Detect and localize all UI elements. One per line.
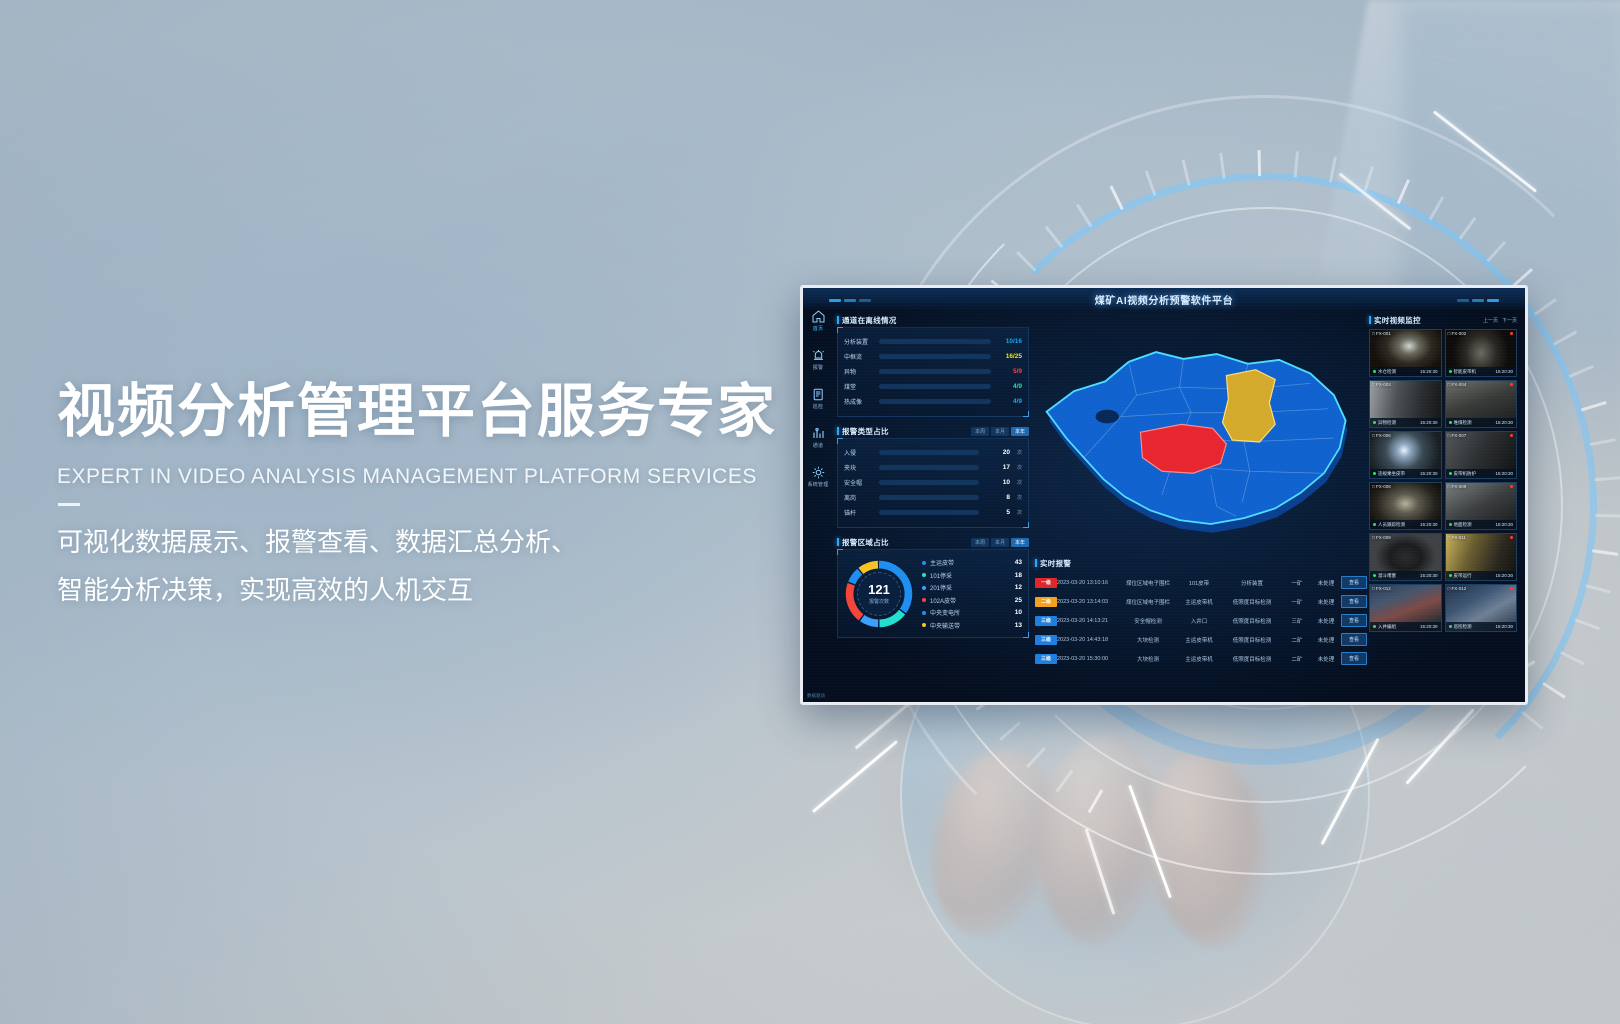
video-footer: 皮带运行15:20:30 [1446, 571, 1517, 580]
cell-status: 未处理 [1311, 636, 1341, 644]
table-row: 三级2023-03-20 14:13:21安全帽检测入井口低照度目标检测三矿未处… [1035, 611, 1367, 630]
status-badge: 三级 [1035, 616, 1057, 626]
channel-bar-row: 异物5/9 [844, 364, 1022, 379]
video-name: 水仓检测 [1378, 369, 1396, 375]
video-name: 违规乘坐皮带 [1378, 471, 1405, 477]
legend-color-dot [922, 598, 926, 602]
video-name: 皮带运行 [1454, 573, 1472, 579]
header-dash-right-3 [1457, 299, 1469, 302]
video-prev-page[interactable]: 上一页 [1483, 317, 1498, 324]
video-cell[interactable]: □ FX-002智能皮带机15:20:30 [1445, 329, 1518, 377]
video-time: 15:20:30 [1420, 471, 1438, 476]
donut-center-value: 121 [868, 583, 890, 596]
video-name: 智能皮带机 [1454, 369, 1477, 375]
alert-type-unit: 次 [1017, 464, 1022, 471]
home-icon [812, 310, 825, 323]
cell-time: 2023-03-20 15:30:00 [1057, 656, 1119, 662]
alert-type-track [879, 510, 979, 515]
legend-color-dot [922, 573, 926, 577]
video-code: □ FX-009 [1372, 535, 1391, 540]
legend-value: 13 [1015, 622, 1022, 629]
video-grid: □ FX-001水仓检测15:20:30□ FX-002智能皮带机15:20:3… [1369, 329, 1517, 632]
alert-type-value: 10 [984, 479, 1010, 486]
video-name-wrap: 违规乘坐皮带 [1373, 471, 1405, 477]
sidebar-item-2[interactable]: 报警 [812, 349, 825, 371]
video-name: 皮带机防护 [1454, 471, 1477, 477]
video-cell[interactable]: □ FX-009地面检测15:20:30 [1445, 482, 1518, 530]
recording-indicator-icon [1510, 434, 1513, 437]
province-map[interactable] [1035, 316, 1367, 566]
channel-bar-label: 煤堂 [844, 382, 874, 391]
description-line-2: 智能分析决策，实现高效的人机交互 [57, 566, 817, 614]
channel-bar-track [879, 369, 991, 374]
cell-status: 未处理 [1311, 655, 1341, 663]
video-name-wrap: 入井编组 [1373, 624, 1396, 630]
tab-本年[interactable]: 本年 [1011, 427, 1029, 436]
sidebar-item-5[interactable]: 系统管理 [808, 466, 829, 488]
panel-channel-header: 通道在离线情况 [837, 313, 1029, 327]
status-badge: 三级 [1035, 654, 1057, 664]
header-dash-left-2 [844, 299, 856, 302]
video-name-wrap: 异物检测 [1373, 420, 1396, 426]
video-header: 实时视频监控 上一页 下一页 [1369, 313, 1517, 327]
video-time: 15:20:30 [1495, 471, 1513, 476]
online-status-icon [1449, 574, 1452, 577]
video-code: □ FX-012 [1448, 586, 1467, 591]
panel-alert-area-body: 121 报警次数 主运皮带43101停采18201停采12102A皮带25中央变… [837, 549, 1029, 638]
alerts-table: 一级2023-03-20 13:10:16煤位区域电子围栏101皮带分析装置一矿… [1035, 573, 1367, 668]
view-button[interactable]: 查看 [1341, 595, 1367, 608]
alert-type-unit: 次 [1017, 494, 1022, 501]
map-region-red[interactable] [1140, 424, 1226, 473]
alert-type-track [879, 465, 979, 470]
channel-bar-row: 热成像4/9 [844, 394, 1022, 409]
video-name: 地面检测 [1454, 522, 1472, 528]
alert-type-unit: 次 [1017, 449, 1022, 456]
video-name: 入井编组 [1378, 624, 1396, 630]
panel-channel-status: 通道在离线情况 分析装置10/16中框流16/25异物5/9煤堂4/9热成像4/… [837, 313, 1029, 417]
description-line-1: 可视化数据展示、报警查看、数据汇总分析、 [57, 518, 817, 566]
channel-bar-value: 4/9 [996, 398, 1022, 405]
sidebar-item-label: 系统管理 [808, 481, 829, 488]
panel-video-monitor: 实时视频监控 上一页 下一页 □ FX-001水仓检测15:20:30□ FX-… [1369, 313, 1517, 632]
cell-channel: 入井口 [1177, 617, 1221, 625]
cell-type: 大块检测 [1119, 636, 1177, 644]
video-footer: 巡检检测15:20:30 [1446, 622, 1517, 631]
panel-alert-type-header: 报警类型占比 本周本月本年 [837, 424, 1029, 438]
legend-value: 43 [1015, 559, 1022, 566]
video-cell[interactable]: □ FX-009溜斗堵塞15:20:30 [1369, 533, 1442, 581]
sidebar-item-3[interactable]: 巡检 [812, 388, 825, 410]
panel-alert-area-title: 报警区域占比 [837, 537, 889, 548]
video-footer: 智能皮带机15:20:30 [1446, 367, 1517, 376]
sidebar-item-label: 巡检 [813, 403, 823, 410]
legend-item: 中央输送带13 [922, 621, 1022, 630]
cell-status: 未处理 [1311, 617, 1341, 625]
video-footer: 堆煤检测15:20:30 [1446, 418, 1517, 427]
cell-kind: 低照度目标检测 [1221, 655, 1283, 663]
channel-bar-value: 5/9 [996, 368, 1022, 375]
alert-type-row: 入侵20次 [844, 445, 1022, 460]
video-pagination[interactable]: 上一页 下一页 [1483, 317, 1517, 324]
video-code: □ FX-012 [1372, 586, 1391, 591]
alert-type-unit: 次 [1017, 479, 1022, 486]
cell-mine: 一矿 [1283, 598, 1311, 606]
cell-channel: 101皮带 [1177, 579, 1221, 587]
channel-bar-value: 10/16 [996, 338, 1022, 345]
video-footer: 溜斗堵塞15:20:30 [1370, 571, 1441, 580]
cell-kind: 分析装置 [1221, 579, 1283, 587]
cell-action: 查看 [1341, 652, 1367, 665]
legend-value: 18 [1015, 572, 1022, 579]
video-cell[interactable]: □ FX-007皮带机防护15:20:30 [1445, 431, 1518, 479]
channel-bar-label: 热成像 [844, 397, 874, 406]
video-cell[interactable]: □ FX-004堆煤检测15:20:30 [1445, 380, 1518, 428]
panel-channel-title: 通道在离线情况 [837, 315, 897, 326]
online-status-icon [1373, 523, 1376, 526]
legend-value: 12 [1015, 584, 1022, 591]
alert-type-label: 离岗 [844, 493, 874, 502]
sidebar-item-label: 首页 [813, 325, 823, 332]
online-status-icon [1449, 625, 1452, 628]
recording-indicator-icon [1510, 332, 1513, 335]
cell-channel: 主运皮带机 [1177, 655, 1221, 663]
map-lake [1096, 410, 1119, 424]
table-row: 三级2023-03-20 14:43:18大块检测主运皮带机低照度目标检测二矿未… [1035, 630, 1367, 649]
video-time: 15:20:30 [1495, 420, 1513, 425]
legend-label: 101停采 [930, 571, 1011, 580]
legend-item: 主运皮带43 [922, 558, 1022, 567]
video-time: 15:20:30 [1420, 573, 1438, 578]
alert-type-value: 17 [984, 464, 1010, 471]
video-name-wrap: 巡检检测 [1449, 624, 1472, 630]
video-time: 15:20:30 [1420, 624, 1438, 629]
cell-kind: 低照度目标检测 [1221, 617, 1283, 625]
cell-status: 未处理 [1311, 598, 1341, 606]
video-code: □ FX-011 [1448, 535, 1466, 540]
channel-bar-row: 煤堂4/9 [844, 379, 1022, 394]
cell-time: 2023-03-20 13:14:03 [1057, 599, 1119, 605]
legend-label: 201停采 [930, 583, 1011, 592]
sidebar-item-4[interactable]: 通道 [812, 427, 825, 449]
dashboard-screen: 煤矿AI视频分析预警软件平台 首页报警巡检通道系统管理 通道在离线情况 分析装置… [803, 288, 1525, 702]
channel-bar-label: 中框流 [844, 352, 874, 361]
sidebar-item-1[interactable]: 首页 [812, 310, 825, 332]
cell-channel: 主运皮带机 [1177, 636, 1221, 644]
view-button[interactable]: 查看 [1341, 576, 1367, 589]
divider [58, 503, 80, 506]
video-code: □ FX-009 [1448, 484, 1467, 489]
video-code: □ FX-002 [1448, 331, 1467, 336]
channel-bar-value: 4/9 [996, 383, 1022, 390]
video-name-wrap: 水仓检测 [1373, 369, 1396, 375]
video-name-wrap: 皮带机防护 [1449, 471, 1477, 477]
channel-bar-label: 异物 [844, 367, 874, 376]
view-button[interactable]: 查看 [1341, 633, 1367, 646]
channel-bar-value: 16/25 [996, 353, 1022, 360]
alert-type-label: 入侵 [844, 448, 874, 457]
cell-type: 煤位区域电子围栏 [1119, 579, 1177, 587]
video-name-wrap: 溜斗堵塞 [1373, 573, 1396, 579]
video-footer: 异物检测15:20:30 [1370, 418, 1441, 427]
video-name: 异物检测 [1378, 420, 1396, 426]
video-name: 人员跟踪检测 [1378, 522, 1405, 528]
status-badge: 二级 [1035, 597, 1057, 607]
video-footer: 地面检测15:20:30 [1446, 520, 1517, 529]
video-footer: 人员跟踪检测15:20:30 [1370, 520, 1441, 529]
video-footer: 违规乘坐皮带15:20:30 [1370, 469, 1441, 478]
legend-label: 中央输送带 [930, 621, 1011, 630]
video-time: 15:20:30 [1420, 420, 1438, 425]
alerts-header: 实时报警 [1035, 556, 1367, 570]
legend-item: 中央变电所10 [922, 608, 1022, 617]
left-panel-column: 通道在离线情况 分析装置10/16中框流16/25异物5/9煤堂4/9热成像4/… [837, 313, 1029, 645]
marketing-copy: 视频分析管理平台服务专家 EXPERT IN VIDEO ANALYSIS MA… [57, 380, 817, 614]
panel-realtime-alerts: 实时报警 一级2023-03-20 13:10:16煤位区域电子围栏101皮带分… [1035, 556, 1367, 668]
dashboard-title: 煤矿AI视频分析预警软件平台 [1095, 292, 1233, 307]
cell-action: 查看 [1341, 576, 1367, 589]
status-badge: 三级 [1035, 635, 1057, 645]
video-name-wrap: 地面检测 [1449, 522, 1472, 528]
panel-alert-type-title: 报警类型占比 [837, 426, 889, 437]
channel-bar-row: 中框流16/25 [844, 349, 1022, 364]
legend-color-dot [922, 586, 926, 590]
video-time: 15:20:30 [1495, 522, 1513, 527]
online-status-icon [1449, 421, 1452, 424]
cell-time: 2023-03-20 14:13:21 [1057, 618, 1119, 624]
cell-type: 大块检测 [1119, 655, 1177, 663]
table-row: 三级2023-03-20 15:30:00大块检测主运皮带机低照度目标检测二矿未… [1035, 649, 1367, 668]
cell-mine: 二矿 [1283, 636, 1311, 644]
alert-type-row: 离岗8次 [844, 490, 1022, 505]
table-row: 二级2023-03-20 13:14:03煤位区域电子围栏主运皮带机低照度目标检… [1035, 592, 1367, 611]
video-name: 巡检检测 [1454, 624, 1472, 630]
video-code: □ FX-006 [1372, 433, 1391, 438]
video-cell[interactable]: □ FX-008人员跟踪检测15:20:30 [1369, 482, 1442, 530]
alert-type-value: 20 [984, 449, 1010, 456]
panel-alert-area-tabs[interactable]: 本周本月本年 [971, 538, 1029, 547]
alert-type-label: 安全帽 [844, 478, 874, 487]
online-status-icon [1449, 523, 1452, 526]
legend-color-dot [922, 623, 926, 627]
video-name-wrap: 皮带运行 [1449, 573, 1472, 579]
online-status-icon [1373, 574, 1376, 577]
video-time: 15:20:30 [1495, 573, 1513, 578]
inspection-icon [812, 388, 825, 401]
video-cell[interactable]: □ FX-012巡检检测15:20:30 [1445, 584, 1518, 632]
alert-type-value: 5 [984, 509, 1010, 516]
legend-label: 中央变电所 [930, 608, 1011, 617]
video-footer: 水仓检测15:20:30 [1370, 367, 1441, 376]
alert-type-track [879, 450, 979, 455]
alert-type-row: 安全帽10次 [844, 475, 1022, 490]
alert-type-label: 锚杆 [844, 508, 874, 517]
cell-action: 查看 [1341, 595, 1367, 608]
map-region[interactable] [1035, 316, 1367, 566]
legend-color-dot [922, 561, 926, 565]
video-time: 15:20:30 [1420, 369, 1438, 374]
legend-label: 主运皮带 [930, 558, 1011, 567]
recording-indicator-icon [1510, 383, 1513, 386]
header-dash-left-3 [859, 299, 871, 302]
panel-alert-type-body: 入侵20次夹块17次安全帽10次离岗8次锚杆5次 [837, 438, 1029, 528]
video-name-wrap: 堆煤检测 [1449, 420, 1472, 426]
video-next-page[interactable]: 下一页 [1502, 317, 1517, 324]
video-code: □ FX-001 [1372, 331, 1391, 336]
alerts-title: 实时报警 [1035, 558, 1071, 569]
alert-type-row: 夹块17次 [844, 460, 1022, 475]
donut-chart: 121 报警次数 [844, 559, 914, 629]
cell-channel: 主运皮带机 [1177, 598, 1221, 606]
view-button[interactable]: 查看 [1341, 614, 1367, 627]
video-name: 堆煤检测 [1454, 420, 1472, 426]
video-cell[interactable]: □ FX-012入井编组15:20:30 [1369, 584, 1442, 632]
channel-bar-row: 分析装置10/16 [844, 334, 1022, 349]
sidebar-item-label: 报警 [813, 364, 823, 371]
panel-alert-type: 报警类型占比 本周本月本年 入侵20次夹块17次安全帽10次离岗8次锚杆5次 [837, 424, 1029, 528]
cell-kind: 低照度目标检测 [1221, 636, 1283, 644]
video-title: 实时视频监控 [1369, 315, 1421, 326]
channel-bar-label: 分析装置 [844, 337, 874, 346]
cell-action: 查看 [1341, 633, 1367, 646]
video-code: □ FX-003 [1372, 382, 1391, 387]
table-row: 一级2023-03-20 13:10:16煤位区域电子围栏101皮带分析装置一矿… [1035, 573, 1367, 592]
gear-icon [812, 466, 825, 479]
video-name-wrap: 智能皮带机 [1449, 369, 1477, 375]
online-status-icon [1373, 625, 1376, 628]
cell-action: 查看 [1341, 614, 1367, 627]
legend-label: 102A皮带 [930, 596, 1011, 605]
panel-alert-area-header: 报警区域占比 本周本月本年 [837, 535, 1029, 549]
alert-type-value: 8 [984, 494, 1010, 501]
video-name-wrap: 人员跟踪检测 [1373, 522, 1405, 528]
alert-type-unit: 次 [1017, 509, 1022, 516]
tab-本月[interactable]: 本月 [991, 427, 1009, 436]
video-cell[interactable]: □ FX-003异物检测15:20:30 [1369, 380, 1442, 428]
tab-本月[interactable]: 本月 [991, 538, 1009, 547]
subtitle-english: EXPERT IN VIDEO ANALYSIS MANAGEMENT PLAT… [57, 465, 817, 489]
legend-item: 101停采18 [922, 571, 1022, 580]
video-name: 溜斗堵塞 [1378, 573, 1396, 579]
legend-value: 25 [1015, 597, 1022, 604]
cell-type: 安全帽检测 [1119, 617, 1177, 625]
panel-alert-area: 报警区域占比 本周本月本年 121 报警次数 [837, 535, 1029, 638]
video-code: □ FX-008 [1372, 484, 1391, 489]
recording-indicator-icon [1510, 536, 1513, 539]
channel-bar-track [879, 384, 991, 389]
legend-color-dot [922, 611, 926, 615]
tab-本年[interactable]: 本年 [1011, 538, 1029, 547]
video-time: 15:20:30 [1495, 369, 1513, 374]
cell-mine: 三矿 [1283, 617, 1311, 625]
cell-type: 煤位区域电子围栏 [1119, 598, 1177, 606]
online-status-icon [1373, 370, 1376, 373]
monitor-bezel: 煤矿AI视频分析预警软件平台 首页报警巡检通道系统管理 通道在离线情况 分析装置… [800, 285, 1528, 705]
video-cell[interactable]: □ FX-006违规乘坐皮带15:20:30 [1369, 431, 1442, 479]
dashboard-header: 煤矿AI视频分析预警软件平台 [803, 288, 1525, 311]
view-button[interactable]: 查看 [1341, 652, 1367, 665]
header-dash-right-2 [1472, 299, 1484, 302]
alarm-icon [812, 349, 825, 362]
video-cell[interactable]: □ FX-001水仓检测15:20:30 [1369, 329, 1442, 377]
alert-type-label: 夹块 [844, 463, 874, 472]
alert-type-track [879, 495, 979, 500]
panel-channel-body: 分析装置10/16中框流16/25异物5/9煤堂4/9热成像4/9 [837, 327, 1029, 417]
legend-item: 201停采12 [922, 583, 1022, 592]
video-code: □ FX-004 [1448, 382, 1467, 387]
online-status-icon [1449, 370, 1452, 373]
online-status-icon [1373, 421, 1376, 424]
video-time: 15:20:30 [1495, 624, 1513, 629]
video-footer: 皮带机防护15:20:30 [1446, 469, 1517, 478]
cell-mine: 二矿 [1283, 655, 1311, 663]
video-footer: 入井编组15:20:30 [1370, 622, 1441, 631]
recording-indicator-icon [1510, 485, 1513, 488]
dashboard-sidebar[interactable]: 首页报警巡检通道系统管理 [803, 298, 833, 702]
tab-本周[interactable]: 本周 [971, 427, 989, 436]
recording-indicator-icon [1510, 587, 1513, 590]
online-status-icon [1373, 472, 1376, 475]
status-badge: 一级 [1035, 578, 1057, 588]
channel-icon [812, 427, 825, 440]
video-time: 15:20:30 [1420, 522, 1438, 527]
page-title: 视频分析管理平台服务专家 [57, 380, 817, 445]
panel-alert-type-tabs[interactable]: 本周本月本年 [971, 427, 1029, 436]
donut-center: 121 报警次数 [857, 572, 901, 616]
cell-kind: 低照度目标检测 [1221, 598, 1283, 606]
channel-bar-track [879, 399, 991, 404]
legend-value: 10 [1015, 609, 1022, 616]
cell-mine: 一矿 [1283, 579, 1311, 587]
alert-type-track [879, 480, 979, 485]
video-code: □ FX-007 [1448, 433, 1467, 438]
donut-legend: 主运皮带43101停采18201停采12102A皮带25中央变电所10中央输送带… [922, 558, 1022, 630]
channel-bar-track [879, 339, 991, 344]
donut-chart-wrapper: 121 报警次数 主运皮带43101停采18201停采12102A皮带25中央变… [844, 556, 1022, 630]
tab-本周[interactable]: 本周 [971, 538, 989, 547]
cell-time: 2023-03-20 13:10:16 [1057, 580, 1119, 586]
legend-item: 102A皮带25 [922, 596, 1022, 605]
online-status-icon [1449, 472, 1452, 475]
video-cell[interactable]: □ FX-011皮带运行15:20:30 [1445, 533, 1518, 581]
cell-time: 2023-03-20 14:43:18 [1057, 637, 1119, 643]
alert-type-row: 锚杆5次 [844, 505, 1022, 520]
donut-center-label: 报警次数 [869, 598, 889, 605]
sidebar-item-label: 通道 [813, 442, 823, 449]
map-region-yellow[interactable] [1222, 370, 1275, 442]
channel-bar-track [879, 354, 991, 359]
cell-status: 未处理 [1311, 579, 1341, 587]
header-dash-right-1 [1487, 299, 1499, 302]
